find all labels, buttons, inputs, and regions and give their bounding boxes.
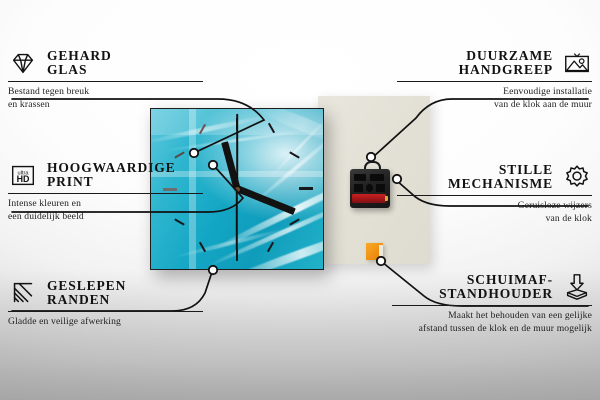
feature-desc-line2: een duidelijk beeld — [8, 211, 84, 222]
feature-description: Maakt het behouden van een gelijke afsta… — [392, 310, 592, 335]
clock-tick — [299, 187, 313, 190]
press-down-spacer-icon — [562, 272, 592, 302]
feature-divider — [8, 193, 203, 194]
feature-geslepen-randen: GESLEPEN RANDEN Gladde en veilige afwerk… — [8, 278, 203, 329]
gear-icon — [562, 162, 592, 192]
foam-spacer — [366, 243, 383, 260]
feature-title-line2: STANDHOUDER — [439, 287, 553, 301]
feature-title-line2: PRINT — [47, 175, 176, 189]
mechanism-battery — [352, 194, 386, 203]
clock-tick — [267, 242, 274, 253]
feature-header: SCHUIMAF- STANDHOUDER — [392, 272, 592, 302]
feature-title-line1: GEHARD — [47, 49, 112, 63]
feature-desc-line2: van de klok aan de muur — [494, 99, 592, 110]
feature-hoogwaardige-print: ultra HD HOOGWAARDIGE PRINT Intense kleu… — [8, 160, 203, 224]
feature-title-line1: HOOGWAARDIGE — [47, 161, 176, 175]
clock-second-hand — [236, 188, 238, 250]
feature-desc-line1: Gladde en veilige afwerking — [8, 316, 121, 327]
picture-frame-icon — [562, 48, 592, 78]
clock-minute-hand — [236, 185, 296, 215]
clock-center-pivot — [235, 187, 240, 192]
feature-divider — [397, 195, 592, 196]
svg-text:HD: HD — [17, 174, 30, 184]
feature-divider — [8, 81, 203, 82]
feature-divider — [397, 81, 592, 82]
feature-duurzame-handgreep: DUURZAME HANDGREEP Eenvoudige installati… — [397, 48, 592, 112]
feature-header: ultra HD HOOGWAARDIGE PRINT — [8, 160, 203, 190]
feature-desc-line2: van de klok — [546, 213, 592, 224]
feature-header: GESLEPEN RANDEN — [8, 278, 203, 308]
feature-description: Gladde en veilige afwerking — [8, 316, 203, 329]
feature-desc-line2: afstand tussen de klok en de muur mogeli… — [419, 323, 592, 334]
feature-title-line2: HANDGREEP — [459, 63, 553, 77]
clock-tick — [236, 249, 238, 261]
feature-title-line2: GLAS — [47, 63, 112, 77]
feature-desc-line1: Bestand tegen breuk — [8, 86, 89, 97]
feature-desc-line1: Eenvoudige installatie — [503, 86, 592, 97]
feature-divider — [392, 305, 592, 306]
feature-title-line1: SCHUIMAF- — [439, 273, 553, 287]
feature-desc-line1: Maakt het behouden van een gelijke — [448, 310, 592, 321]
feature-description: Eenvoudige installatie van de klok aan d… — [397, 86, 592, 111]
ultra-hd-icon: ultra HD — [8, 160, 38, 190]
diamond-icon — [8, 48, 38, 78]
feature-title-line1: GESLEPEN — [47, 279, 126, 293]
feature-schuimafstandhouder: SCHUIMAF- STANDHOUDER Maakt het behouden… — [392, 272, 592, 336]
feature-gehard-glas: GEHARD GLAS Bestand tegen breuk en krass… — [8, 48, 203, 112]
feature-header: STILLE MECHANISME — [397, 162, 592, 192]
feature-description: Geruisloze wijzers van de klok — [397, 200, 592, 225]
feature-desc-line1: Intense kleuren en — [8, 198, 81, 209]
feature-divider — [8, 311, 203, 312]
feature-stille-mechanisme: STILLE MECHANISME Geruisloze wijzers van… — [397, 162, 592, 226]
infographic-canvas: GEHARD GLAS Bestand tegen breuk en krass… — [0, 0, 600, 400]
beveled-edges-icon — [8, 278, 38, 308]
clock-second-hand-tail — [236, 114, 238, 188]
feature-desc-line2: en krassen — [8, 99, 50, 110]
feature-description: Bestand tegen breuk en krassen — [8, 86, 203, 111]
feature-title-line2: MECHANISME — [448, 177, 553, 191]
feature-header: DUURZAME HANDGREEP — [397, 48, 592, 78]
clock-tick — [174, 151, 185, 158]
feature-desc-line1: Geruisloze wijzers — [518, 200, 592, 211]
feature-header: GEHARD GLAS — [8, 48, 203, 78]
feature-title-line2: RANDEN — [47, 293, 126, 307]
feature-title-line1: STILLE — [448, 163, 553, 177]
feature-description: Intense kleuren en een duidelijk beeld — [8, 198, 203, 223]
feature-title-line1: DUURZAME — [459, 49, 553, 63]
